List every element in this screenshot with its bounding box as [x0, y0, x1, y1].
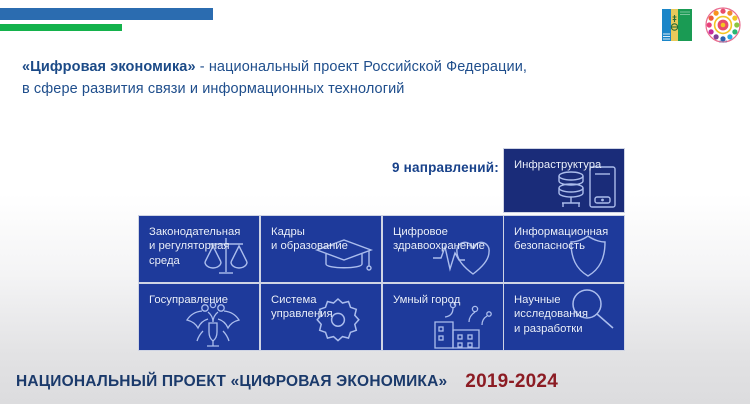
tile-smart-city[interactable]: Умный город: [382, 283, 504, 351]
tile-label: Инфраструктура: [504, 149, 624, 172]
page-title: «Цифровая экономика» - национальный прое…: [22, 56, 622, 101]
accent-bar-blue: [0, 8, 213, 20]
tile-label: Цифровое здравоохранение: [383, 216, 503, 254]
tile-label: Умный город: [383, 284, 503, 307]
khanty-mansi-coat-of-arms-icon: [660, 6, 694, 49]
smart-city-icon: [427, 300, 499, 350]
tile-personnel-education[interactable]: Кадры и образование: [260, 215, 382, 283]
directions-grid: Инфраструктура Законодательная и регулят…: [138, 148, 625, 361]
banner-years: 2019-2024: [465, 371, 558, 393]
tile-research-development[interactable]: Научные исследования и разработки: [503, 283, 625, 351]
tile-label: Законодательная и регуляторная среда: [139, 216, 259, 268]
tile-public-administration[interactable]: Госуправление: [138, 283, 260, 351]
tile-label: Госуправление: [139, 284, 259, 307]
headline-line-1: «Цифровая экономика» - национальный прое…: [22, 56, 622, 78]
tile-management-system[interactable]: Система управления: [260, 283, 382, 351]
tile-legislative-environment[interactable]: Законодательная и регуляторная среда: [138, 215, 260, 283]
anniversary-round-emblem-icon: 2023: [704, 6, 742, 49]
tile-label: Система управления: [261, 284, 381, 322]
headline-strong: «Цифровая экономика»: [22, 59, 196, 75]
tile-label: Информационная безопасность: [504, 216, 624, 254]
tile-infrastructure[interactable]: Инфраструктура: [503, 148, 625, 213]
tile-label: Научные исследования и разработки: [504, 284, 624, 336]
tile-digital-healthcare[interactable]: Цифровое здравоохранение: [382, 215, 504, 283]
emblem-group: 2023: [660, 6, 742, 49]
headline-rest: - национальный проект Российской Федерац…: [196, 59, 527, 75]
tile-information-security[interactable]: Информационная безопасность: [503, 215, 625, 283]
tile-label: Кадры и образование: [261, 216, 381, 254]
bottom-banner: НАЦИОНАЛЬНЫЙ ПРОЕКТ «ЦИФРОВАЯ ЭКОНОМИКА»…: [0, 360, 750, 404]
headline-line-2: в сфере развития связи и информационных …: [22, 78, 622, 100]
double-eagle-icon: [185, 301, 241, 349]
banner-title: НАЦИОНАЛЬНЫЙ ПРОЕКТ «ЦИФРОВАЯ ЭКОНОМИКА»: [16, 373, 447, 391]
accent-bar-green: [0, 24, 122, 31]
svg-text:2023: 2023: [719, 39, 727, 43]
